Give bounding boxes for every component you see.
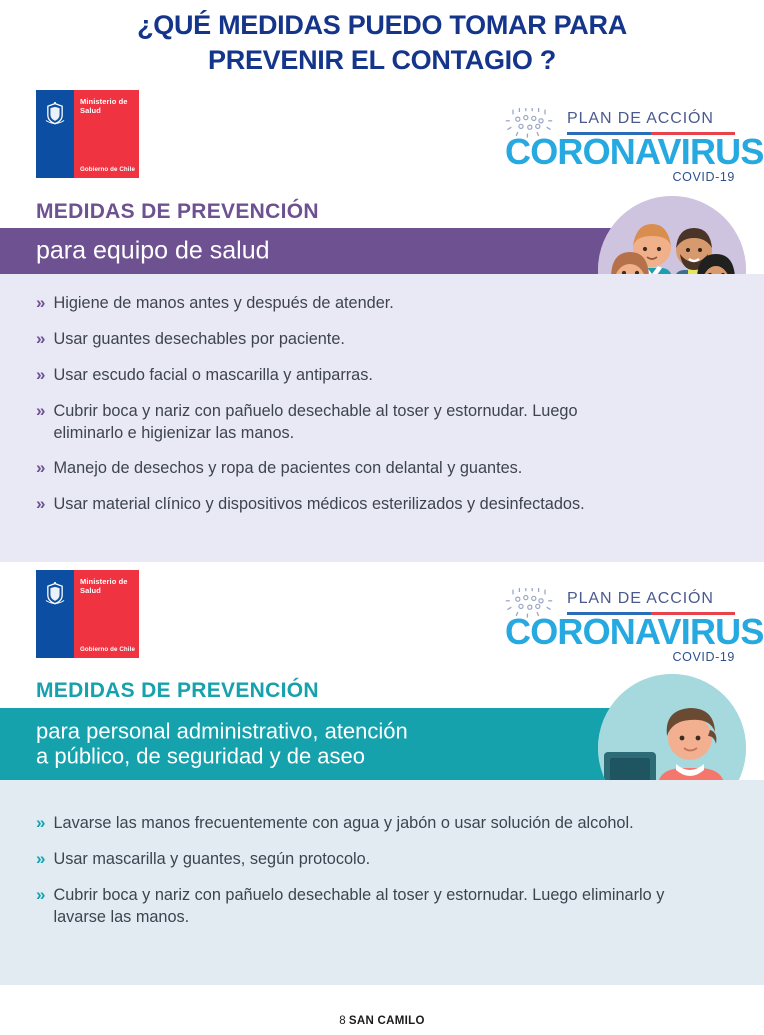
chevron-bullet-icon: »: [36, 884, 45, 907]
list-item: » Cubrir boca y nariz con pañuelo desech…: [36, 400, 636, 444]
page-title-line-1: ¿QUÉ MEDIDAS PUEDO TOMAR PARA: [137, 10, 627, 40]
list-item: » Higiene de manos antes y después de at…: [36, 292, 636, 315]
ministry-label-line-1: Ministerio de: [80, 577, 128, 586]
chevron-bullet-icon: »: [36, 812, 45, 835]
list-item: » Lavarse las manos frecuentemente con a…: [36, 812, 676, 835]
footer: 8 SAN CAMILO: [0, 1015, 764, 1027]
plan-de-accion-label: PLAN DE ACCIÓN: [567, 590, 714, 608]
list-item: » Usar escudo facial o mascarilla y anti…: [36, 364, 636, 387]
ministry-label-line-2: Salud: [80, 586, 128, 595]
logo-red-panel: Ministerio de Salud Gobierno de Chile: [74, 90, 139, 178]
section-2-bullet-list: » Lavarse las manos frecuentemente con a…: [36, 812, 676, 941]
ministry-label-line-2: Salud: [80, 106, 128, 115]
section-2-kicker: MEDIDAS DE PREVENCIÓN: [36, 679, 319, 703]
chevron-bullet-icon: »: [36, 292, 45, 315]
list-item-text: Usar escudo facial o mascarilla y antipa…: [53, 364, 372, 386]
list-item-text: Cubrir boca y nariz con pañuelo desechab…: [53, 884, 676, 928]
section-2-subtitle-line-1: para personal administrativo, atención: [36, 719, 408, 744]
section-1-band: para equipo de salud: [0, 228, 630, 274]
section-1-kicker: MEDIDAS DE PREVENCIÓN: [36, 200, 319, 224]
section-2-subtitle-line-2: a público, de seguridad y de aseo: [36, 744, 408, 769]
section-1-subtitle: para equipo de salud: [36, 237, 270, 266]
section-2-band: para personal administrativo, atención a…: [0, 708, 630, 780]
list-item: » Usar guantes desechables por paciente.: [36, 328, 636, 351]
list-item-text: Usar material clínico y dispositivos méd…: [53, 493, 584, 515]
list-item: » Usar mascarilla y guantes, según proto…: [36, 848, 676, 871]
covid19-label: COVID-19: [673, 650, 735, 664]
chile-coat-of-arms-icon: [42, 581, 68, 607]
logo-red-panel: Ministerio de Salud Gobierno de Chile: [74, 570, 139, 658]
logo-blue-panel: [36, 90, 74, 178]
ministry-of-health-logo-2: Ministerio de Salud Gobierno de Chile: [36, 570, 139, 658]
ministry-label: Ministerio de Salud: [80, 97, 128, 116]
government-label: Gobierno de Chile: [80, 646, 135, 653]
chevron-bullet-icon: »: [36, 364, 45, 387]
infographic-page: ¿QUÉ MEDIDAS PUEDO TOMAR PARA PREVENIR E…: [0, 0, 764, 1035]
plan-de-accion-label: PLAN DE ACCIÓN: [567, 110, 714, 128]
ministry-label: Ministerio de Salud: [80, 577, 128, 596]
list-item-text: Usar mascarilla y guantes, según protoco…: [53, 848, 370, 870]
list-item-text: Usar guantes desechables por paciente.: [53, 328, 344, 350]
list-item-text: Manejo de desechos y ropa de pacientes c…: [53, 457, 522, 479]
chevron-bullet-icon: »: [36, 848, 45, 871]
chile-coat-of-arms-icon: [42, 101, 68, 127]
list-item-text: Lavarse las manos frecuentemente con agu…: [53, 812, 633, 834]
covid19-label: COVID-19: [673, 170, 735, 184]
section-2-subtitle: para personal administrativo, atención a…: [36, 719, 408, 770]
page-number: 8: [339, 1015, 345, 1027]
section-1-bullet-list: » Higiene de manos antes y después de at…: [36, 292, 636, 529]
ministry-label-line-1: Ministerio de: [80, 97, 128, 106]
coronavirus-wordmark: CORONAVIRUS: [505, 134, 735, 170]
list-item: » Usar material clínico y dispositivos m…: [36, 493, 636, 516]
footer-brand: SAN CAMILO: [349, 1015, 425, 1027]
chevron-bullet-icon: »: [36, 328, 45, 351]
page-title-line-2: PREVENIR EL CONTAGIO ?: [0, 43, 764, 78]
list-item-text: Higiene de manos antes y después de aten…: [53, 292, 393, 314]
chevron-bullet-icon: »: [36, 457, 45, 480]
ministry-of-health-logo: Ministerio de Salud Gobierno de Chile: [36, 90, 139, 178]
coronavirus-wordmark: CORONAVIRUS: [505, 614, 735, 650]
coronavirus-plan-logo: PLAN DE ACCIÓN CORONAVIRUS COVID-19: [505, 106, 735, 184]
coronavirus-plan-logo-2: PLAN DE ACCIÓN CORONAVIRUS COVID-19: [505, 586, 735, 664]
page-title: ¿QUÉ MEDIDAS PUEDO TOMAR PARA PREVENIR E…: [0, 8, 764, 78]
list-item: » Manejo de desechos y ropa de pacientes…: [36, 457, 636, 480]
government-label: Gobierno de Chile: [80, 166, 135, 173]
list-item-text: Cubrir boca y nariz con pañuelo desechab…: [53, 400, 636, 444]
chevron-bullet-icon: »: [36, 493, 45, 516]
chevron-bullet-icon: »: [36, 400, 45, 423]
list-item: » Cubrir boca y nariz con pañuelo desech…: [36, 884, 676, 928]
logo-blue-panel: [36, 570, 74, 658]
